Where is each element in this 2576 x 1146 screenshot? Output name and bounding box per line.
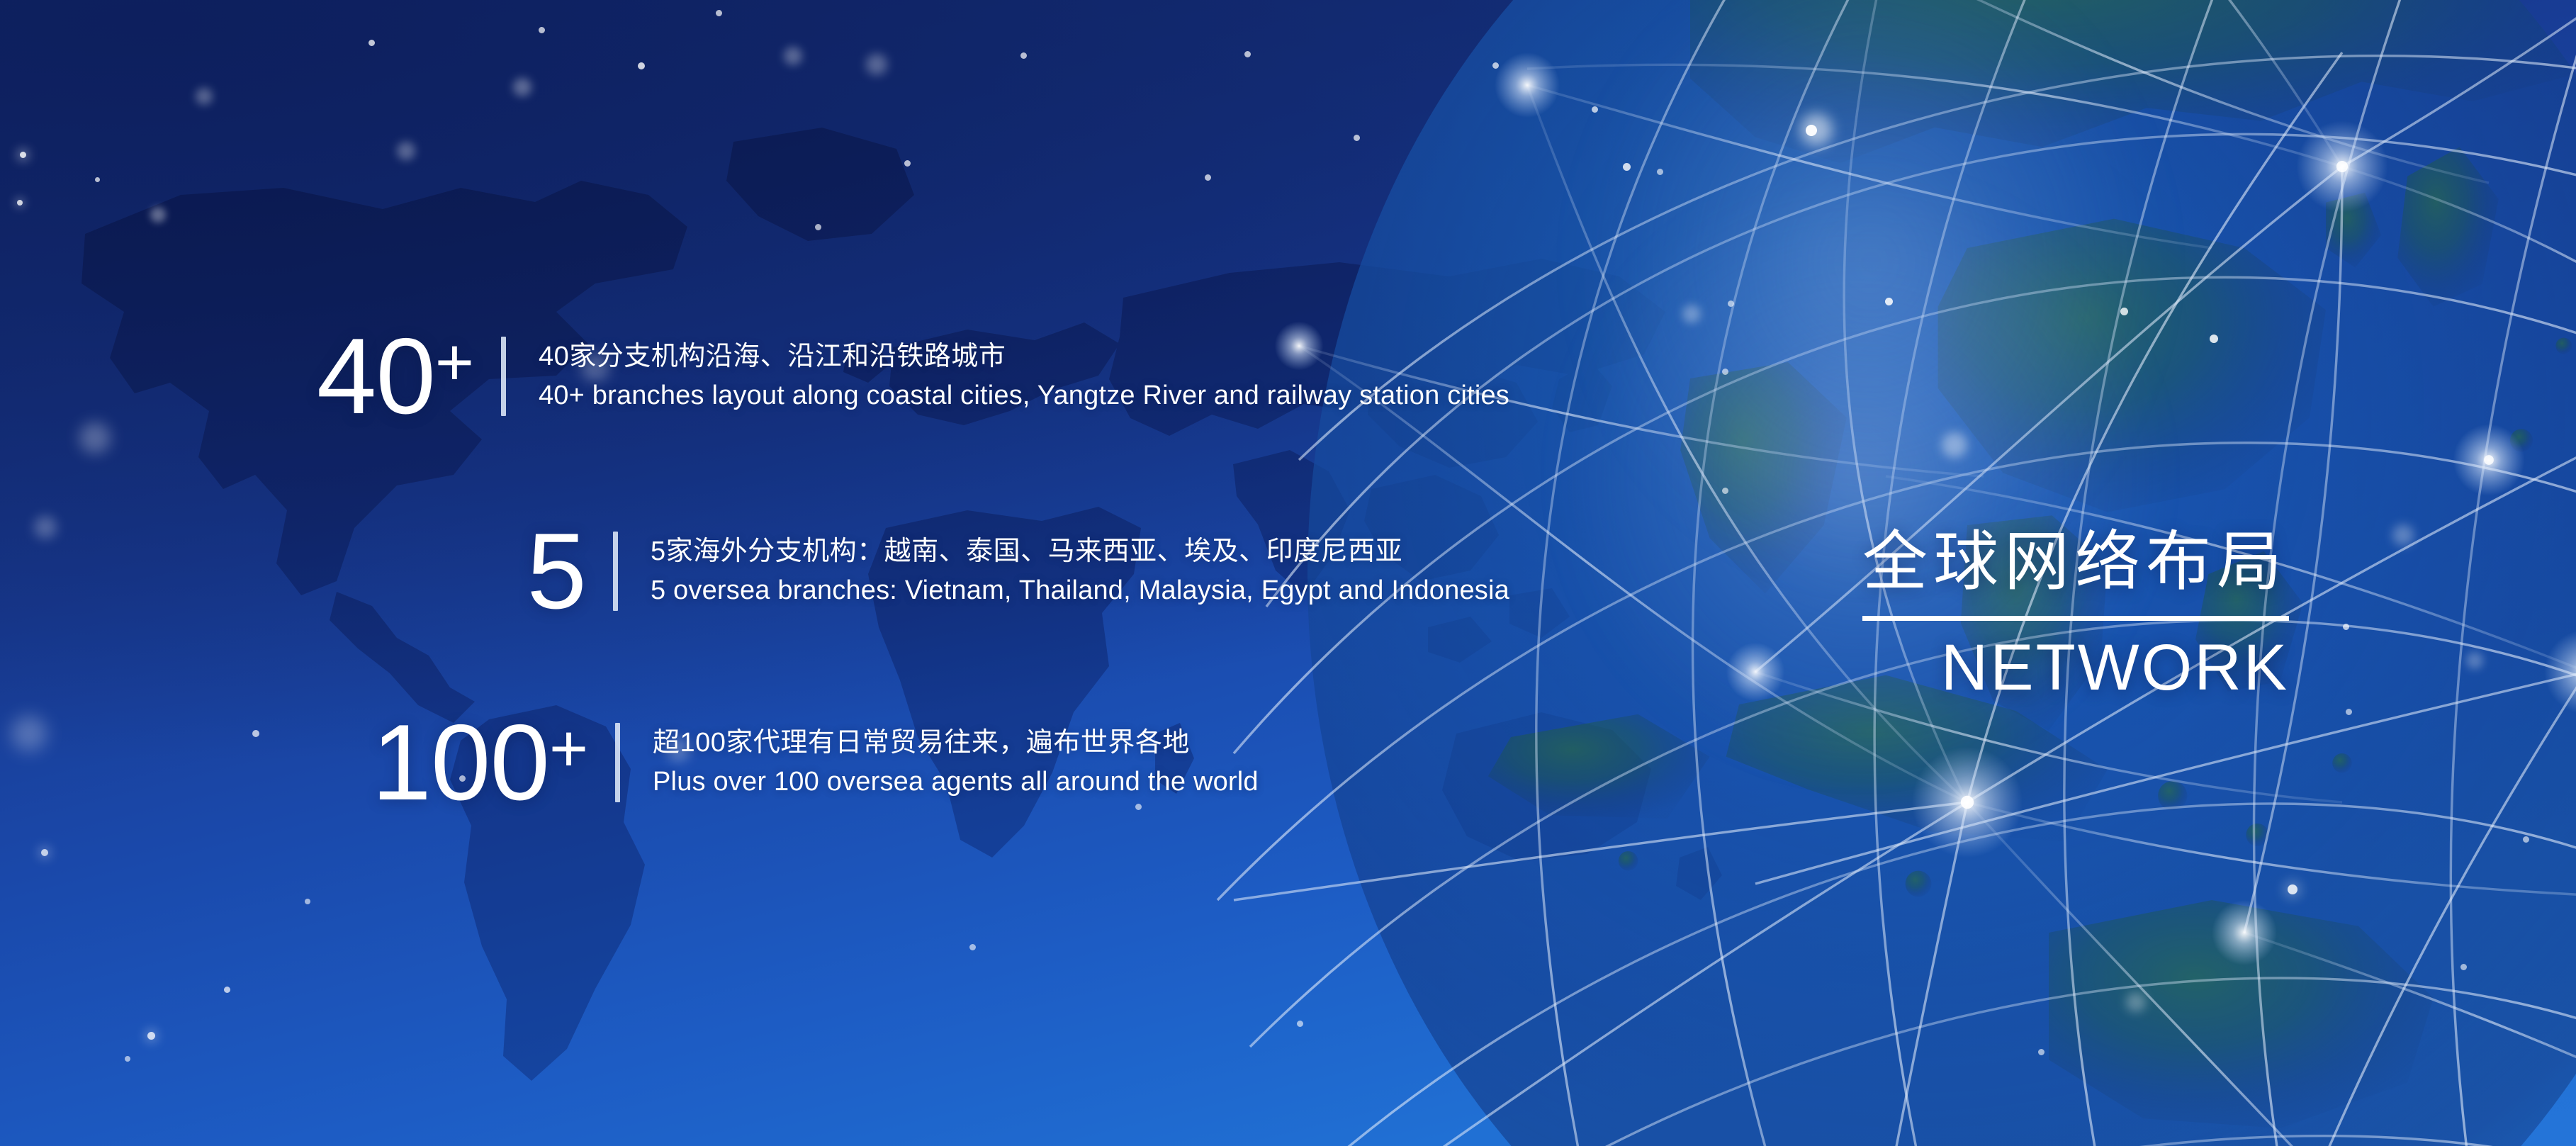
stat-number-suffix: + bbox=[549, 711, 588, 785]
stat-text-cn: 40家分支机构沿海、沿江和沿铁路城市 bbox=[539, 337, 1509, 376]
stat-number: 40+ bbox=[234, 322, 474, 430]
title-english: NETWORK bbox=[1862, 634, 2289, 703]
stat-number-suffix: + bbox=[435, 325, 474, 399]
stat-text: 超100家代理有日常贸易往来，遍布世界各地 Plus over 100 over… bbox=[653, 724, 1259, 802]
stat-divider bbox=[501, 337, 506, 416]
stat-number: 100+ bbox=[234, 709, 588, 816]
stat-divider bbox=[615, 723, 620, 802]
stat-number-value: 5 bbox=[527, 511, 586, 631]
stat-text-en: 5 oversea branches: Vietnam, Thailand, M… bbox=[651, 571, 1509, 610]
stat-number: 5 bbox=[234, 517, 586, 625]
statistics-list: 40+ 40家分支机构沿海、沿江和沿铁路城市 40+ branches layo… bbox=[0, 0, 1559, 1146]
stat-number-value: 100 bbox=[371, 702, 549, 823]
stat-text-en: Plus over 100 oversea agents all around … bbox=[653, 763, 1259, 802]
title-block: 全球网络布局 NETWORK bbox=[1862, 528, 2289, 702]
stat-text: 40家分支机构沿海、沿江和沿铁路城市 40+ branches layout a… bbox=[539, 337, 1509, 415]
stat-text-en: 40+ branches layout along coastal cities… bbox=[539, 376, 1509, 415]
stat-row: 100+ 超100家代理有日常贸易往来，遍布世界各地 Plus over 100… bbox=[234, 709, 1509, 816]
stat-text: 5家海外分支机构：越南、泰国、马来西亚、埃及、印度尼西亚 5 oversea b… bbox=[651, 532, 1509, 610]
stat-row: 40+ 40家分支机构沿海、沿江和沿铁路城市 40+ branches layo… bbox=[234, 322, 1509, 430]
title-divider-rule bbox=[1862, 616, 2289, 621]
stat-divider bbox=[613, 532, 618, 611]
network-banner: 40+ 40家分支机构沿海、沿江和沿铁路城市 40+ branches layo… bbox=[0, 0, 2576, 1146]
stat-number-value: 40 bbox=[317, 316, 435, 437]
stat-row: 5 5家海外分支机构：越南、泰国、马来西亚、埃及、印度尼西亚 5 oversea… bbox=[234, 517, 1509, 625]
stat-text-cn: 5家海外分支机构：越南、泰国、马来西亚、埃及、印度尼西亚 bbox=[651, 532, 1509, 571]
title-chinese: 全球网络布局 bbox=[1862, 528, 2289, 597]
stat-text-cn: 超100家代理有日常贸易往来，遍布世界各地 bbox=[653, 724, 1259, 763]
